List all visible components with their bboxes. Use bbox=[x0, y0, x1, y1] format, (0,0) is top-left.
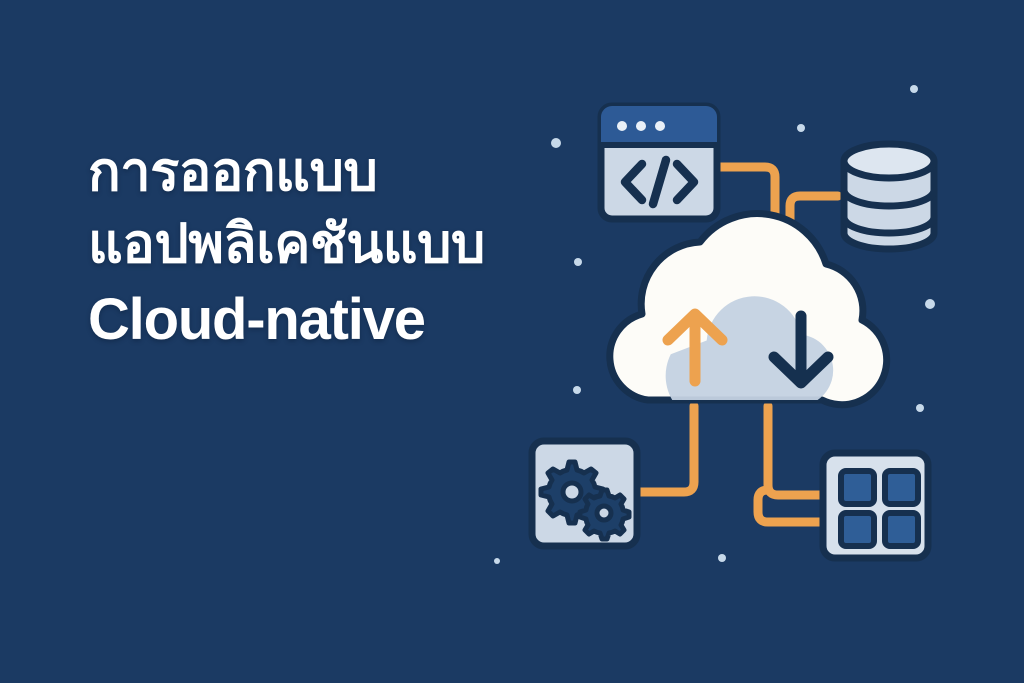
decor-dot bbox=[574, 258, 582, 266]
headline-line-3: Cloud-native bbox=[88, 281, 558, 358]
window-dots bbox=[617, 121, 665, 131]
connector-cloud-to-modules-upper bbox=[768, 406, 826, 495]
headline-line-1: การออกแบบ bbox=[88, 136, 558, 208]
page-title: การออกแบบ แอปพลิเคชันแบบ Cloud-native bbox=[88, 136, 558, 358]
database-icon bbox=[844, 144, 934, 249]
window-dot bbox=[617, 121, 627, 131]
decor-dot bbox=[797, 124, 805, 132]
decor-dot bbox=[925, 299, 935, 309]
banner-root: การออกแบบ แอปพลิเคชันแบบ Cloud-native bbox=[0, 0, 1024, 683]
decor-dot bbox=[910, 85, 918, 93]
window-dot bbox=[655, 121, 665, 131]
gear-small-icon bbox=[580, 490, 629, 539]
grid-tile bbox=[841, 513, 874, 546]
connector-gears-to-cloud bbox=[638, 406, 694, 492]
decor-dot bbox=[573, 386, 581, 394]
grid-modules-icon bbox=[823, 453, 928, 558]
code-window-icon bbox=[601, 106, 717, 219]
cloud-sync-icon bbox=[610, 214, 887, 433]
decor-dot bbox=[718, 554, 726, 562]
grid-tile bbox=[885, 471, 918, 504]
headline-line-2: แอปพลิเคชันแบบ bbox=[88, 208, 558, 280]
decor-dot bbox=[916, 404, 924, 412]
gears-icon bbox=[532, 441, 637, 546]
grid-tile bbox=[841, 471, 874, 504]
grid-tile bbox=[885, 513, 918, 546]
decor-dot bbox=[494, 558, 500, 564]
window-dot bbox=[636, 121, 646, 131]
